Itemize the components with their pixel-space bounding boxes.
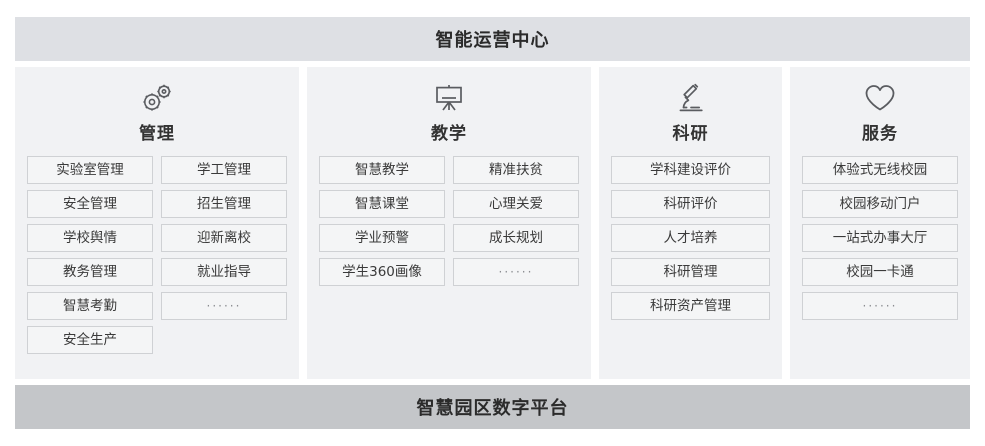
tile-item-more[interactable]: ······ [161,292,287,320]
tile-item[interactable]: 人才培养 [611,224,770,252]
tile-item[interactable]: 科研资产管理 [611,292,770,320]
category-title-service: 服务 [862,119,898,144]
tile-grid-management: 实验室管理 学工管理 安全管理 招生管理 学校舆情 迎新离校 教务管理 就业指导… [27,156,287,354]
tile-item-more[interactable]: ······ [453,258,579,286]
tile-item[interactable]: 智慧考勤 [27,292,153,320]
tile-item[interactable]: 体验式无线校园 [802,156,958,184]
tile-item[interactable]: 就业指导 [161,258,287,286]
tile-item[interactable]: 科研管理 [611,258,770,286]
tile-item[interactable]: 校园一卡通 [802,258,958,286]
tile-item[interactable]: 教务管理 [27,258,153,286]
tile-item-more[interactable]: ······ [802,292,958,320]
gears-icon [139,81,175,115]
category-column-service: 服务 体验式无线校园 校园移动门户 一站式办事大厅 校园一卡通 ······ [790,67,970,379]
category-column-teaching: 教学 智慧教学 精准扶贫 智慧课堂 心理关爱 学业预警 成长规划 学生360画像… [307,67,591,379]
header-title: 智能运营中心 [436,26,550,52]
tile-item[interactable]: 智慧课堂 [319,190,445,218]
category-title-research: 科研 [673,119,709,144]
tile-item[interactable]: 智慧教学 [319,156,445,184]
tile-item[interactable]: 学科建设评价 [611,156,770,184]
tile-grid-research: 学科建设评价 科研评价 人才培养 科研管理 科研资产管理 [611,156,770,320]
heart-icon [863,81,897,115]
tile-item[interactable]: 科研评价 [611,190,770,218]
microscope-icon [676,81,706,115]
tile-item[interactable]: 学工管理 [161,156,287,184]
tile-item[interactable]: 安全生产 [27,326,153,354]
tile-item[interactable]: 成长规划 [453,224,579,252]
tile-item[interactable]: 学业预警 [319,224,445,252]
tile-item[interactable]: 学生360画像 [319,258,445,286]
tile-item[interactable]: 迎新离校 [161,224,287,252]
category-column-research: 科研 学科建设评价 科研评价 人才培养 科研管理 科研资产管理 [599,67,782,379]
tile-item[interactable]: 学校舆情 [27,224,153,252]
category-title-teaching: 教学 [431,119,467,144]
category-columns: 管理 实验室管理 学工管理 安全管理 招生管理 学校舆情 迎新离校 教务管理 就… [15,67,970,379]
footer-title: 智慧园区数字平台 [417,394,569,420]
category-title-management: 管理 [139,119,175,144]
category-column-management: 管理 实验室管理 学工管理 安全管理 招生管理 学校舆情 迎新离校 教务管理 就… [15,67,299,379]
tile-item[interactable]: 校园移动门户 [802,190,958,218]
tile-item[interactable]: 实验室管理 [27,156,153,184]
tile-grid-teaching: 智慧教学 精准扶贫 智慧课堂 心理关爱 学业预警 成长规划 学生360画像 ··… [319,156,579,286]
tile-item[interactable]: 安全管理 [27,190,153,218]
tile-item[interactable]: 一站式办事大厅 [802,224,958,252]
tile-item[interactable]: 招生管理 [161,190,287,218]
easel-icon [432,81,466,115]
tile-grid-service: 体验式无线校园 校园移动门户 一站式办事大厅 校园一卡通 ······ [802,156,958,320]
tile-item[interactable]: 心理关爱 [453,190,579,218]
footer-banner: 智慧园区数字平台 [15,385,970,429]
smart-campus-architecture-diagram: 智能运营中心 管理 实验室管理 学工管理 安全管理 招生管理 学校舆情 [0,0,985,446]
tile-item[interactable]: 精准扶贫 [453,156,579,184]
header-banner: 智能运营中心 [15,17,970,61]
